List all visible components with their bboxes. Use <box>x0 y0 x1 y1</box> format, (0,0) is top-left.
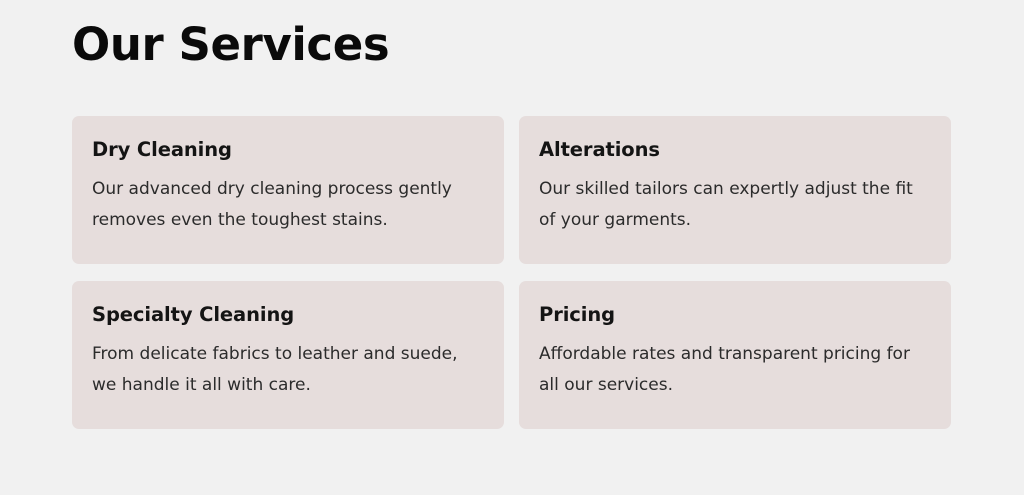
service-card-title: Pricing <box>539 303 931 327</box>
service-card-description: Our advanced dry cleaning process gently… <box>92 174 484 236</box>
services-grid: Dry Cleaning Our advanced dry cleaning p… <box>72 116 950 429</box>
service-card-title: Dry Cleaning <box>92 138 484 162</box>
service-card-pricing[interactable]: Pricing Affordable rates and transparent… <box>519 281 951 429</box>
service-card-description: From delicate fabrics to leather and sue… <box>92 339 484 401</box>
service-card-description: Affordable rates and transparent pricing… <box>539 339 931 401</box>
service-card-title: Specialty Cleaning <box>92 303 484 327</box>
service-card-specialty-cleaning[interactable]: Specialty Cleaning From delicate fabrics… <box>72 281 504 429</box>
page-title: Our Services <box>72 18 389 71</box>
services-page: Our Services Dry Cleaning Our advanced d… <box>0 0 1024 495</box>
service-card-alterations[interactable]: Alterations Our skilled tailors can expe… <box>519 116 951 264</box>
service-card-description: Our skilled tailors can expertly adjust … <box>539 174 931 236</box>
service-card-title: Alterations <box>539 138 931 162</box>
service-card-dry-cleaning[interactable]: Dry Cleaning Our advanced dry cleaning p… <box>72 116 504 264</box>
